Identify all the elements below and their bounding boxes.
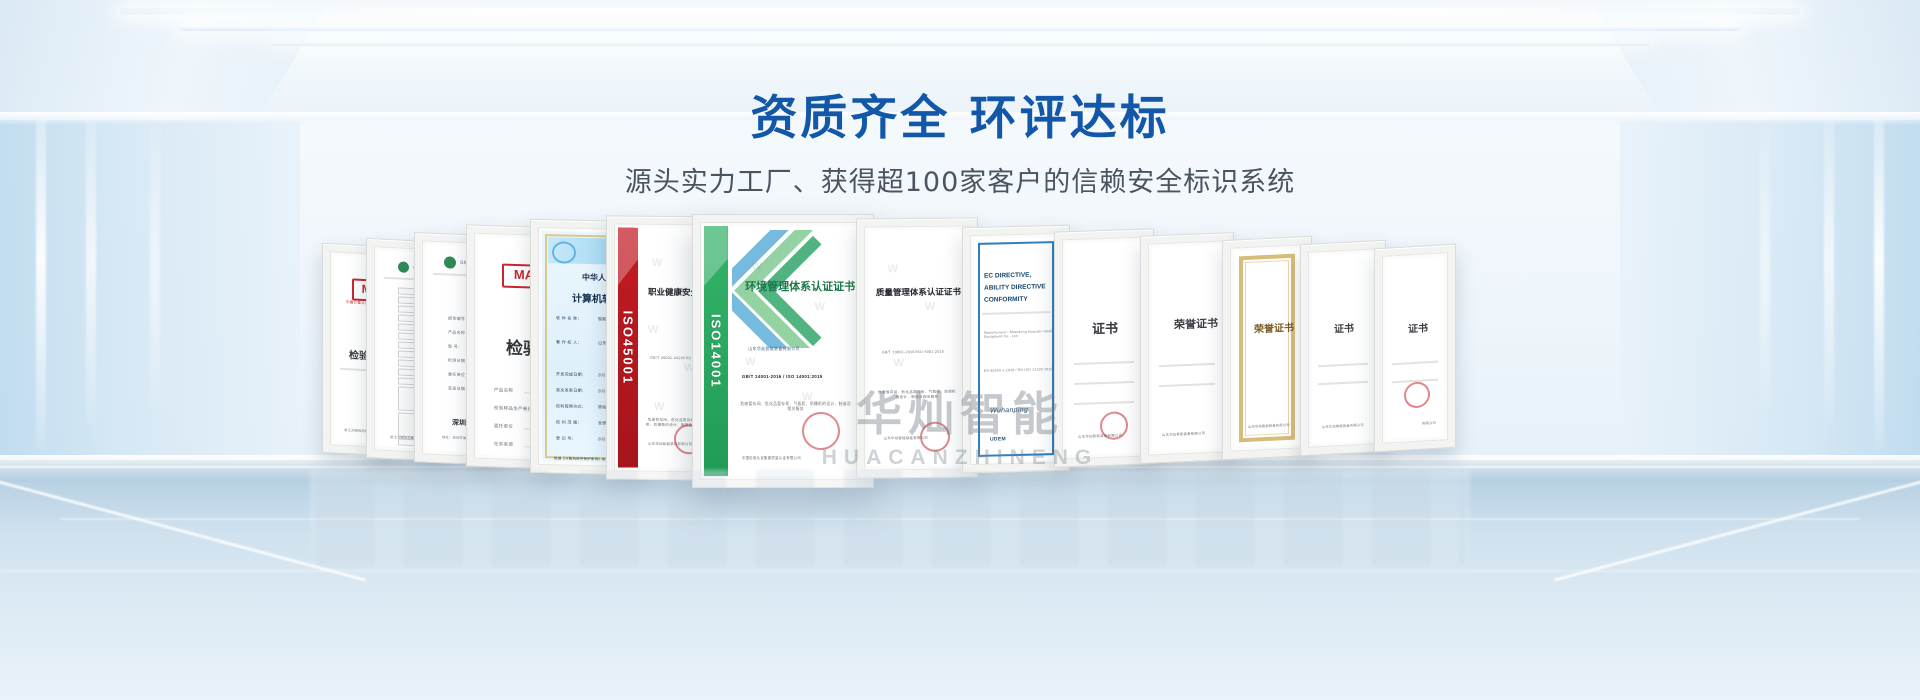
signature: Wuhanping bbox=[990, 407, 1028, 415]
certificate-paper: 荣誉证书 山东华灿智能装备有限公司 bbox=[1152, 245, 1222, 452]
field-label: 登 记 号： bbox=[556, 435, 576, 441]
certificate-frame[interactable]: 证书 有限公司 bbox=[1374, 244, 1456, 453]
red-seal-stamp-icon bbox=[1402, 379, 1433, 411]
certificate-frame[interactable]: 荣誉证书 山东华灿智能装备有限公司 bbox=[1140, 232, 1234, 464]
field-label: 软 件 名 称： bbox=[556, 315, 582, 322]
certificate-paper: EC DIRECTIVE, ABILITY DIRECTIVE CONFORMI… bbox=[974, 237, 1058, 461]
field-label: 任务来源 bbox=[494, 441, 513, 448]
iso-band: ISO14001 bbox=[704, 226, 728, 476]
certificate-frame[interactable]: ISO14001 W W W W 环境管理体系认证证书 山东华灿智能装备有限公司… bbox=[692, 214, 874, 488]
issuer-label: UDEM bbox=[990, 436, 1006, 442]
certificate-paper: ISO14001 W W W W 环境管理体系认证证书 山东华灿智能装备有限公司… bbox=[704, 226, 862, 476]
certificate-frame[interactable]: 荣誉证书 山东华灿智能装备有限公司 bbox=[1222, 236, 1312, 460]
certificate-footer: 中国检验认证集团质量认证有限公司 bbox=[742, 455, 801, 460]
field-label: 权利取得方式： bbox=[556, 403, 586, 410]
certificate-title-en2: ABILITY DIRECTIVE bbox=[984, 283, 1046, 292]
banner-headings: 资质齐全 环评达标 源头实力工厂、获得超100家客户的信赖安全标识系统 bbox=[0, 92, 1920, 199]
iso-band: ISO45001 bbox=[618, 227, 638, 467]
certificate-company: 山东华灿智能装备有限公司 bbox=[1322, 422, 1364, 429]
certificate-paper: 证书 山东华灿智能装备有限公司 bbox=[1066, 241, 1142, 456]
decorative-swirl-icon bbox=[552, 241, 576, 264]
certificate-company: 山东华灿智能装备有限公司 bbox=[748, 346, 800, 352]
field-label: 权 利 范 围： bbox=[556, 419, 582, 426]
certificate-paper: 证书 有限公司 bbox=[1386, 256, 1444, 439]
certificate-title-en: EC DIRECTIVE, bbox=[984, 272, 1031, 280]
certificate-scope: 危废暂存间、危化品暂存柜、气瓶柜、防爆柜的设计、制造及相关服务 bbox=[878, 390, 956, 401]
field-label: 检验样品生产单位 bbox=[494, 405, 532, 412]
certificate-title: 证书 bbox=[1092, 318, 1118, 338]
certificate-wall-reflection-bars bbox=[316, 470, 1464, 566]
field-label: 产品名称 bbox=[494, 387, 513, 394]
certificate-frame[interactable]: 证书 山东华灿智能装备有限公司 bbox=[1054, 228, 1154, 467]
certificate-paper: 证书 山东华灿智能装备有限公司 bbox=[1312, 252, 1374, 443]
iso-band-label: ISO14001 bbox=[708, 314, 723, 389]
certificate-frame[interactable]: W W W 质量管理体系认证证书 GB/T 19001-2016/ISO 900… bbox=[856, 217, 978, 478]
certificate-title: 环境管理体系认证证书 bbox=[745, 278, 855, 294]
showroom-banner: 资质齐全 环评达标 源头实力工厂、获得超100家客户的信赖安全标识系统 MA 中… bbox=[0, 0, 1920, 700]
page-title: 资质齐全 环评达标 bbox=[0, 92, 1920, 146]
red-seal-stamp-icon bbox=[917, 419, 953, 455]
certificate-paper: 荣誉证书 山东华灿智能装备有限公司 bbox=[1234, 248, 1300, 447]
certificate-title: 荣誉证书 bbox=[1174, 315, 1218, 333]
certificate-scope: 危废暂存间、危化品暂存柜、气瓶柜、防爆柜的设计、制造及相关服务 bbox=[739, 402, 853, 412]
seal-icon bbox=[398, 261, 409, 273]
field-label: 开发完成日期： bbox=[556, 371, 586, 378]
certificate-title: 荣誉证书 bbox=[1254, 319, 1294, 336]
seal-icon bbox=[444, 256, 456, 269]
red-seal-stamp-icon bbox=[798, 408, 843, 453]
field-label: 著 作 权 人： bbox=[556, 339, 582, 346]
iso-band-label: ISO45001 bbox=[621, 310, 636, 385]
field-label: 委托单位 bbox=[494, 423, 513, 430]
certificate-paper: W W W 质量管理体系认证证书 GB/T 19001-2016/ISO 900… bbox=[868, 229, 966, 466]
certificate-title-en3: CONFORMITY bbox=[984, 296, 1028, 304]
certificate-title: 质量管理体系认证证书 bbox=[876, 286, 961, 299]
certificate-title: 证书 bbox=[1334, 319, 1354, 335]
certificate-company: 山东华灿智能装备有限公司 bbox=[1162, 430, 1205, 437]
certificate-title: 证书 bbox=[1408, 319, 1428, 335]
field-label: 型 号： bbox=[448, 343, 462, 350]
certificate-standard: GB/T 24001-2016 / ISO 14001:2015 bbox=[742, 374, 823, 379]
page-subtitle: 源头实力工厂、获得超100家客户的信赖安全标识系统 bbox=[0, 160, 1920, 199]
certificate-company: 有限公司 bbox=[1422, 420, 1436, 426]
certificate-standard: GB/T 19001-2016/ISO 9001:2015 bbox=[882, 350, 944, 355]
field-label: 首次发表日期： bbox=[556, 387, 586, 394]
